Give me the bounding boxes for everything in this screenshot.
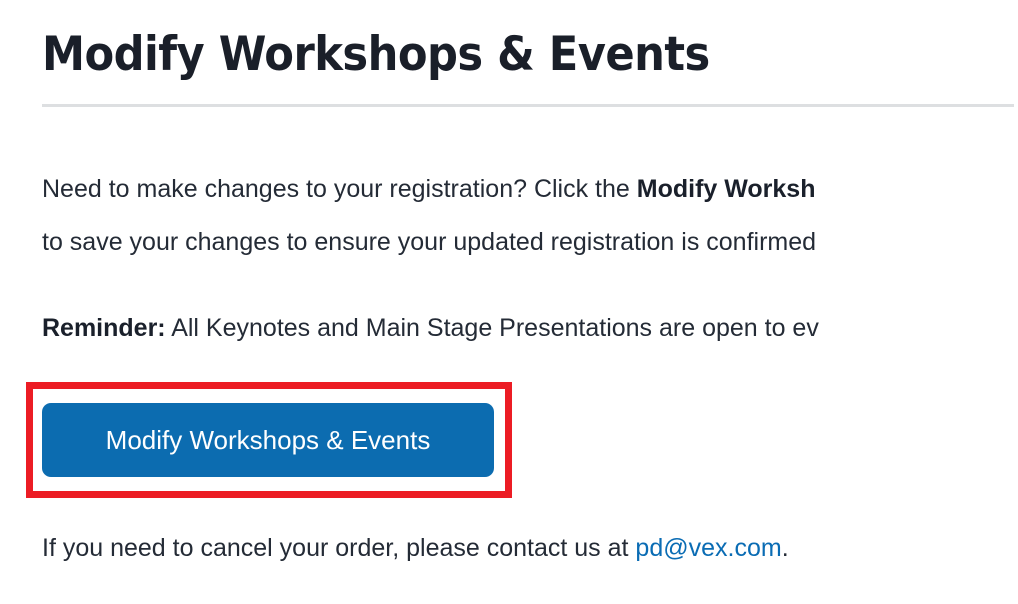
page-title: Modify Workshops & Events [42,0,1018,82]
page-root: Modify Workshops & Events Need to make c… [0,0,1018,604]
intro-paragraph-line2: to save your changes to ensure your upda… [42,216,1018,269]
reminder-text: All Keynotes and Main Stage Presentation… [166,314,819,342]
cta-area: Modify Workshops & Events [42,382,1018,498]
cancel-instructions-paragraph: If you need to cancel your order, please… [42,522,1018,575]
body-block: Need to make changes to your registratio… [42,163,1018,575]
content-column: Modify Workshops & Events Need to make c… [42,0,1018,575]
intro-bold-reference: Modify Worksh [637,175,816,203]
intro-paragraph-line1: Need to make changes to your registratio… [42,163,1018,216]
cancel-text-lead: If you need to cancel your order, please… [42,534,635,562]
title-divider [42,104,1014,107]
reminder-label: Reminder: [42,314,166,342]
cancel-text-period: . [782,534,789,562]
reminder-paragraph: Reminder: All Keynotes and Main Stage Pr… [42,302,1018,355]
modify-workshops-events-button[interactable]: Modify Workshops & Events [42,403,494,477]
intro-text-lead: Need to make changes to your registratio… [42,175,637,203]
support-email-link[interactable]: pd@vex.com [635,534,781,562]
